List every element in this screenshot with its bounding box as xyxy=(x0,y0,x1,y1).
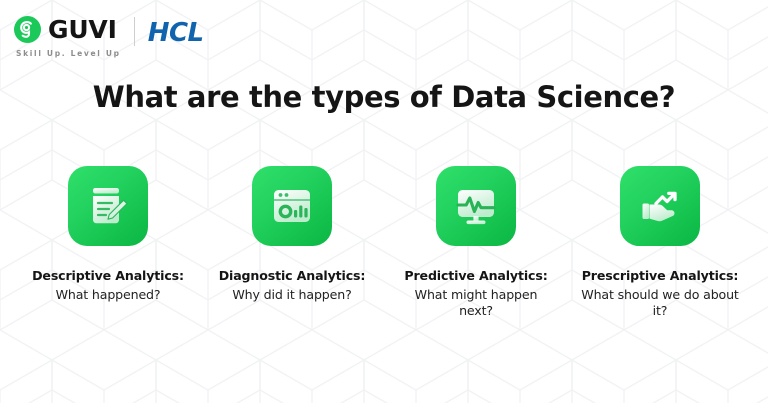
page-title: What are the types of Data Science? xyxy=(0,82,768,114)
card-question: What should we do about it? xyxy=(580,287,740,320)
guvi-logo: GUVI Skill Up. Level Up xyxy=(14,16,121,58)
guvi-wordmark: GUVI xyxy=(48,17,117,42)
hcl-wordmark: HCL xyxy=(148,20,204,46)
guvi-circle-g-icon xyxy=(14,16,41,43)
tile-descriptive-analytics xyxy=(68,166,148,246)
card-diagnostic-analytics: Diagnostic Analytics: Why did it happen? xyxy=(212,166,372,320)
card-question: What might happen next? xyxy=(396,287,556,320)
brand-divider xyxy=(134,17,135,46)
card-text-descriptive: Descriptive Analytics: What happened? xyxy=(28,268,188,303)
tile-prescriptive-analytics xyxy=(620,166,700,246)
card-title: Diagnostic Analytics: xyxy=(212,268,372,285)
card-title: Predictive Analytics: xyxy=(396,268,556,285)
brand-bar: GUVI Skill Up. Level Up HCL xyxy=(14,16,204,58)
analytics-cards-row: Descriptive Analytics: What happened? xyxy=(28,166,740,320)
card-text-diagnostic: Diagnostic Analytics: Why did it happen? xyxy=(212,268,372,303)
card-prescriptive-analytics: Prescriptive Analytics: What should we d… xyxy=(580,166,740,320)
document-pencil-icon xyxy=(85,183,131,229)
tile-diagnostic-analytics xyxy=(252,166,332,246)
slide-canvas: GUVI Skill Up. Level Up HCL What are the… xyxy=(0,0,768,403)
tile-predictive-analytics xyxy=(436,166,516,246)
card-question: Why did it happen? xyxy=(212,287,372,304)
card-descriptive-analytics: Descriptive Analytics: What happened? xyxy=(28,166,188,320)
card-title: Descriptive Analytics: xyxy=(28,268,188,285)
card-title: Prescriptive Analytics: xyxy=(580,268,740,285)
guvi-tagline: Skill Up. Level Up xyxy=(16,50,121,58)
guvi-logo-row: GUVI xyxy=(14,16,117,43)
card-question: What happened? xyxy=(28,287,188,304)
card-predictive-analytics: Predictive Analytics: What might happen … xyxy=(396,166,556,320)
monitor-pulse-icon xyxy=(453,183,499,229)
hand-growth-arrow-icon xyxy=(637,183,683,229)
card-text-prescriptive: Prescriptive Analytics: What should we d… xyxy=(580,268,740,320)
card-text-predictive: Predictive Analytics: What might happen … xyxy=(396,268,556,320)
browser-chart-icon xyxy=(269,183,315,229)
